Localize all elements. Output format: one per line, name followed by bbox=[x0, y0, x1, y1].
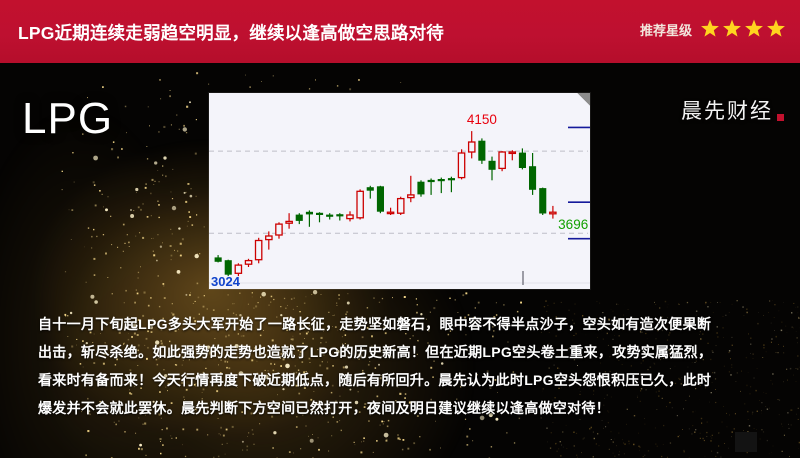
analysis-line: 看来时有备而来！今天行情再度下破近期低点，随后有所回升。晨先认为此时LPG空头怨… bbox=[38, 366, 768, 394]
product-wordmark: LPG bbox=[22, 97, 113, 141]
brand-name: 晨先财经 bbox=[681, 95, 773, 125]
corner-badge bbox=[735, 432, 757, 452]
rating-label: 推荐星级 bbox=[640, 20, 692, 39]
star-icon bbox=[700, 19, 720, 39]
analysis-line: 自十一月下旬起LPG多头大军开始了一路长征，走势坚如磐石，眼中容不得半点沙子，空… bbox=[38, 310, 768, 338]
brand-dot-icon bbox=[777, 114, 784, 121]
candlestick-chart: 415036963024 bbox=[209, 93, 590, 289]
star-icon bbox=[744, 19, 764, 39]
candlestick-chart-panel[interactable]: 415036963024 bbox=[209, 93, 590, 289]
svg-text:3024: 3024 bbox=[211, 274, 241, 289]
svg-text:4150: 4150 bbox=[467, 112, 497, 127]
chart-corner-fold-icon bbox=[577, 93, 590, 106]
star-icon bbox=[766, 19, 786, 39]
poster-canvas: LPG近期连续走弱趋空明显，继续以逢高做空思路对待 推荐星级 LPG 晨先财经 … bbox=[0, 0, 800, 458]
page-title: LPG近期连续走弱趋空明显，继续以逢高做空思路对待 bbox=[18, 20, 444, 45]
analysis-line: 爆发并不会就此罢休。晨先判断下方空间已然打开，夜间及明日建议继续以逢高做空对待！ bbox=[38, 394, 768, 422]
svg-text:3696: 3696 bbox=[558, 217, 588, 232]
star-rating bbox=[700, 19, 786, 39]
brand-logo: 晨先财经 bbox=[681, 95, 784, 125]
analysis-paragraph: 自十一月下旬起LPG多头大军开始了一路长征，走势坚如磐石，眼中容不得半点沙子，空… bbox=[38, 310, 768, 422]
header-banner: LPG近期连续走弱趋空明显，继续以逢高做空思路对待 推荐星级 bbox=[0, 0, 800, 63]
analysis-line: 出击，斩尽杀绝。如此强势的走势也造就了LPG的历史新高！但在近期LPG空头卷土重… bbox=[38, 338, 768, 366]
recommendation-rating: 推荐星级 bbox=[640, 19, 786, 39]
star-icon bbox=[722, 19, 742, 39]
